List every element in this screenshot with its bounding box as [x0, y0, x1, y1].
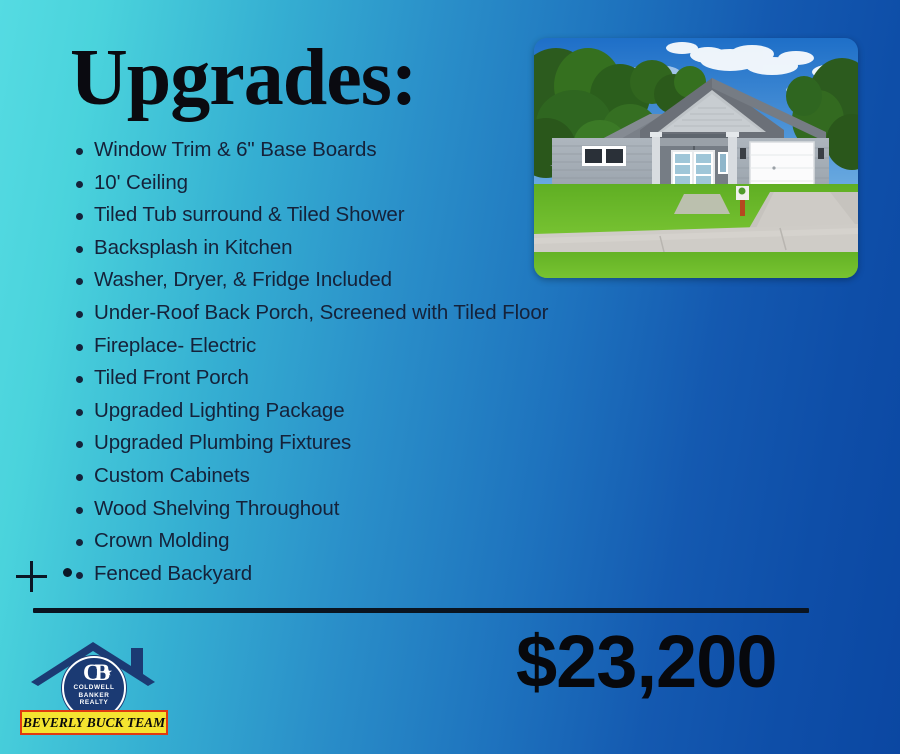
plus-horizontal-stroke: [16, 575, 47, 578]
dot-marker-icon: [63, 568, 72, 577]
bullet-dot-icon: [76, 409, 83, 416]
list-item-label: Under-Roof Back Porch, Screened with Til…: [94, 301, 548, 325]
list-item-label: 10' Ceiling: [94, 171, 188, 195]
list-item-label: Washer, Dryer, & Fridge Included: [94, 268, 392, 292]
bullet-dot-icon: [76, 376, 83, 383]
bullet-dot-icon: [76, 278, 83, 285]
star-icon: ★: [104, 661, 112, 683]
bullet-dot-icon: [76, 344, 83, 351]
team-banner: BEVERLY BUCK TEAM: [20, 710, 168, 735]
list-item: Crown Molding: [76, 529, 696, 562]
list-item: Under-Roof Back Porch, Screened with Til…: [76, 301, 696, 334]
cb-monogram-letters: CB: [83, 660, 105, 685]
bullet-dot-icon: [76, 572, 83, 579]
list-item-label: Tiled Front Porch: [94, 366, 249, 390]
property-photo-illustration: [534, 38, 858, 278]
brand-line-1: COLDWELL: [73, 684, 114, 692]
bullet-dot-icon: [76, 311, 83, 318]
cb-monogram: CB ★: [83, 662, 105, 684]
bullet-dot-icon: [76, 507, 83, 514]
price-amount: $23,200: [516, 625, 777, 699]
bullet-dot-icon: [76, 441, 83, 448]
list-item-label: Tiled Tub surround & Tiled Shower: [94, 203, 404, 227]
bullet-dot-icon: [76, 246, 83, 253]
page-title: Upgrades:: [70, 38, 417, 118]
list-item-label: Fenced Backyard: [94, 562, 252, 586]
list-item-label: Upgraded Plumbing Fixtures: [94, 431, 351, 455]
bullet-dot-icon: [76, 213, 83, 220]
list-item-label: Custom Cabinets: [94, 464, 250, 488]
horizontal-divider: [33, 608, 809, 613]
list-item: Wood Shelving Throughout: [76, 497, 696, 530]
bullet-dot-icon: [76, 181, 83, 188]
list-item-label: Backsplash in Kitchen: [94, 236, 292, 260]
list-item: Upgraded Plumbing Fixtures: [76, 431, 696, 464]
list-item: Fireplace- Electric: [76, 334, 696, 367]
list-item-label: Upgraded Lighting Package: [94, 399, 345, 423]
list-item-label: Window Trim & 6" Base Boards: [94, 138, 376, 162]
flyer-canvas: Upgrades: Window Trim & 6" Base Boards10…: [0, 0, 900, 754]
list-item: Custom Cabinets: [76, 464, 696, 497]
brand-line-2: BANKER: [79, 692, 110, 700]
team-banner-label: BEVERLY BUCK TEAM: [23, 715, 165, 731]
brand-line-3: REALTY: [80, 699, 109, 707]
list-item-label: Wood Shelving Throughout: [94, 497, 339, 521]
bullet-dot-icon: [76, 148, 83, 155]
list-item: Fenced Backyard: [76, 562, 696, 595]
list-item-label: Fireplace- Electric: [94, 334, 256, 358]
list-item: Tiled Front Porch: [76, 366, 696, 399]
bullet-dot-icon: [76, 474, 83, 481]
bullet-dot-icon: [76, 539, 83, 546]
property-photo: [534, 38, 858, 278]
list-item: Upgraded Lighting Package: [76, 399, 696, 432]
list-item-label: Crown Molding: [94, 529, 229, 553]
plus-icon: [16, 561, 47, 592]
